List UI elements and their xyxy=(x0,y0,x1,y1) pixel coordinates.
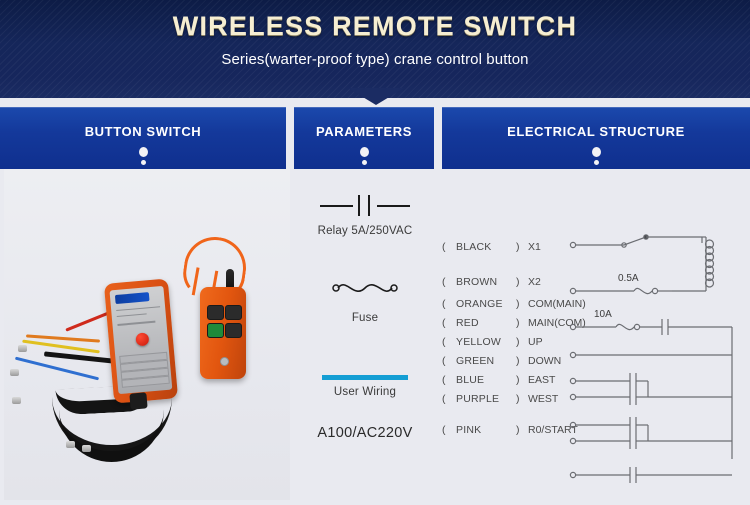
tab-parameters-label: PARAMETERS xyxy=(294,124,434,139)
wire-lug-icon xyxy=(12,397,21,404)
terminal-node xyxy=(570,324,575,329)
parameter-user-wiring: User Wiring xyxy=(292,365,438,398)
wire-color-label: PURPLE xyxy=(456,393,499,405)
header-notch-arrow xyxy=(348,88,404,105)
tab-parameters-dots xyxy=(294,147,434,165)
dot-large-icon xyxy=(592,147,601,157)
transmitter-button-2[interactable] xyxy=(225,305,242,320)
parameter-user-wiring-label: User Wiring xyxy=(292,386,438,398)
paren-close: ) xyxy=(516,424,520,436)
paren-close: ) xyxy=(516,374,520,386)
tab-bar: BUTTON SWITCH PARAMETERS ELECTRICAL STRU… xyxy=(0,107,750,169)
page-title: WIRELESS REMOTE SWITCH xyxy=(0,11,750,42)
cable-gland xyxy=(129,392,147,409)
terminal-node xyxy=(570,352,575,357)
paren-open: ( xyxy=(442,393,446,405)
tab-button-switch[interactable]: BUTTON SWITCH xyxy=(0,107,286,169)
transmitter-indicator xyxy=(220,357,229,366)
plate-line xyxy=(117,313,147,317)
paren-open: ( xyxy=(442,317,446,329)
receiver-label-plate xyxy=(109,286,172,394)
fuse-symbol-icon xyxy=(320,275,410,301)
tab-button-switch-dots xyxy=(0,147,286,165)
terminal-node xyxy=(570,422,575,427)
paren-close: ) xyxy=(516,393,520,405)
wire-color-label: YELLOW xyxy=(456,336,501,348)
wire-color-label: RED xyxy=(456,317,479,329)
paren-close: ) xyxy=(516,241,520,253)
wire-color-label: PINK xyxy=(456,424,481,436)
transmitter-button-1[interactable] xyxy=(207,305,224,320)
terminal-node xyxy=(570,472,575,477)
emergency-stop-button[interactable] xyxy=(135,332,149,346)
wire-color-label: BROWN xyxy=(456,276,497,288)
parameters-column: Relay 5A/250VAC Fuse User Wiring A100/AC… xyxy=(292,169,438,500)
wire-lug-icon xyxy=(82,445,91,452)
wire-color-label: BLUE xyxy=(456,374,484,386)
fuse-symbol xyxy=(616,324,634,329)
wire-color-label: BLACK xyxy=(456,241,491,253)
paren-open: ( xyxy=(442,336,446,348)
tab-electrical-structure-label: ELECTRICAL STRUCTURE xyxy=(442,124,750,139)
circuit-label-10a: 10A xyxy=(594,309,612,320)
wire-color-label: GREEN xyxy=(456,355,494,367)
paren-open: ( xyxy=(442,424,446,436)
paren-close: ) xyxy=(516,298,520,310)
wire-lug-icon xyxy=(10,369,19,376)
dot-small-icon xyxy=(594,160,599,165)
dot-small-icon xyxy=(362,160,367,165)
receiver-unit xyxy=(104,278,178,403)
tab-parameters[interactable]: PARAMETERS xyxy=(294,107,434,169)
wire-color-list: ( BLACK ) X1 ( BROWN ) X2 ( ORANGE ) COM… xyxy=(438,169,568,500)
circuit-label-0-5a: 0.5A xyxy=(618,273,639,284)
transmitter-button-3[interactable] xyxy=(207,323,224,338)
relay-capacitor-symbol-icon xyxy=(320,193,410,219)
parameter-fuse-label: Fuse xyxy=(292,312,438,324)
paren-open: ( xyxy=(442,355,446,367)
page-subtitle: Series(warter-proof type) crane control … xyxy=(0,51,750,68)
wire-black xyxy=(44,351,114,363)
tab-button-switch-label: BUTTON SWITCH xyxy=(0,124,286,139)
coil-icon xyxy=(706,240,714,287)
plate-line xyxy=(116,306,160,311)
wire-lug-icon xyxy=(18,345,27,352)
page-header: WIRELESS REMOTE SWITCH Series(warter-pro… xyxy=(0,0,750,98)
product-detail-page: WIRELESS REMOTE SWITCH Series(warter-pro… xyxy=(0,0,750,500)
wire-color-label: ORANGE xyxy=(456,298,503,310)
parameter-relay: Relay 5A/250VAC xyxy=(292,193,438,237)
model-number: A100/AC220V xyxy=(292,425,438,441)
paren-close: ) xyxy=(516,317,520,329)
user-wiring-bar-icon xyxy=(322,375,408,380)
paren-open: ( xyxy=(442,276,446,288)
wire-lug-icon xyxy=(66,441,75,448)
dot-large-icon xyxy=(139,147,148,157)
paren-close: ) xyxy=(516,336,520,348)
brand-logo xyxy=(115,292,150,304)
paren-open: ( xyxy=(442,241,446,253)
terminal-node xyxy=(570,288,575,293)
transmitter-button-4[interactable] xyxy=(225,323,242,338)
cable-bundle-icon xyxy=(59,409,164,462)
product-photo xyxy=(4,169,290,500)
circuit-diagram: 0.5A 10A xyxy=(566,169,750,500)
paren-close: ) xyxy=(516,276,520,288)
dot-small-icon xyxy=(141,160,146,165)
terminal-node xyxy=(570,394,575,399)
circuit-schematic-svg xyxy=(566,169,750,500)
dot-large-icon xyxy=(360,147,369,157)
paren-close: ) xyxy=(516,355,520,367)
terminal-node xyxy=(570,378,575,383)
tab-electrical-structure[interactable]: ELECTRICAL STRUCTURE xyxy=(442,107,750,169)
tab-electrical-structure-dots xyxy=(442,147,750,165)
terminal-node xyxy=(570,242,575,247)
content-panel: Relay 5A/250VAC Fuse User Wiring A100/AC… xyxy=(0,169,750,500)
plate-line xyxy=(117,321,155,326)
parameter-relay-label: Relay 5A/250VAC xyxy=(292,225,438,237)
paren-open: ( xyxy=(442,298,446,310)
terminal-node xyxy=(570,438,575,443)
fuse-symbol xyxy=(634,288,652,293)
paren-open: ( xyxy=(442,374,446,386)
parameter-fuse: Fuse xyxy=(292,275,438,324)
